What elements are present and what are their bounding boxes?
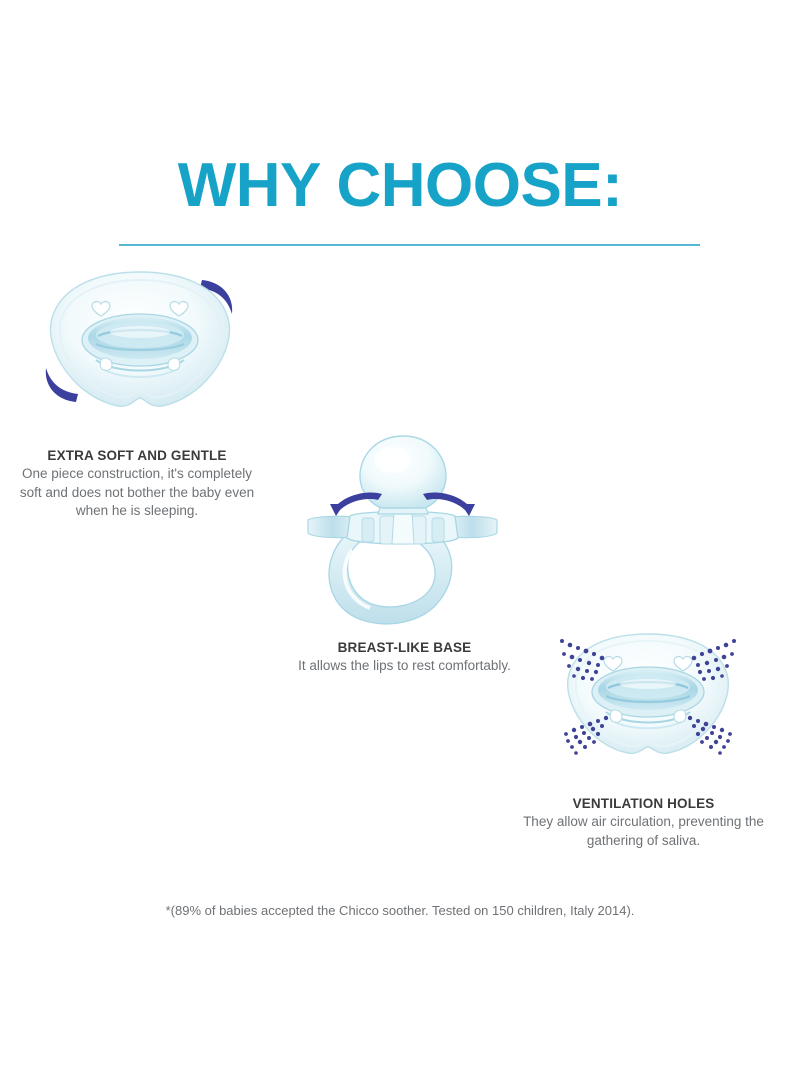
feature-breast-like-base: BREAST-LIKE BASE It allows the lips to r… — [292, 639, 517, 676]
pacifier-front-view-illustration — [26, 266, 254, 416]
page-title: WHY CHOOSE: — [0, 152, 800, 220]
feature-heading: VENTILATION HOLES — [516, 795, 771, 813]
feature-body: It allows the lips to rest comfortably. — [292, 657, 517, 676]
feature-extra-soft-and-gentle: EXTRA SOFT AND GENTLE One piece construc… — [12, 447, 262, 521]
feature-ventilation-holes: VENTILATION HOLES They allow air circula… — [516, 795, 771, 850]
footnote-text: *(89% of babies accepted the Chicco soot… — [0, 902, 800, 920]
pacifier-side-view-illustration — [300, 432, 505, 627]
feature-heading: EXTRA SOFT AND GENTLE — [12, 447, 262, 465]
title-divider — [119, 244, 700, 246]
feature-body: One piece construction, it's completely … — [12, 465, 262, 521]
feature-heading: BREAST-LIKE BASE — [292, 639, 517, 657]
feature-body: They allow air circulation, preventing t… — [516, 813, 771, 850]
pacifier-ventilation-view-illustration — [528, 620, 768, 780]
page-root: WHY CHOOSE: — [0, 0, 800, 1091]
